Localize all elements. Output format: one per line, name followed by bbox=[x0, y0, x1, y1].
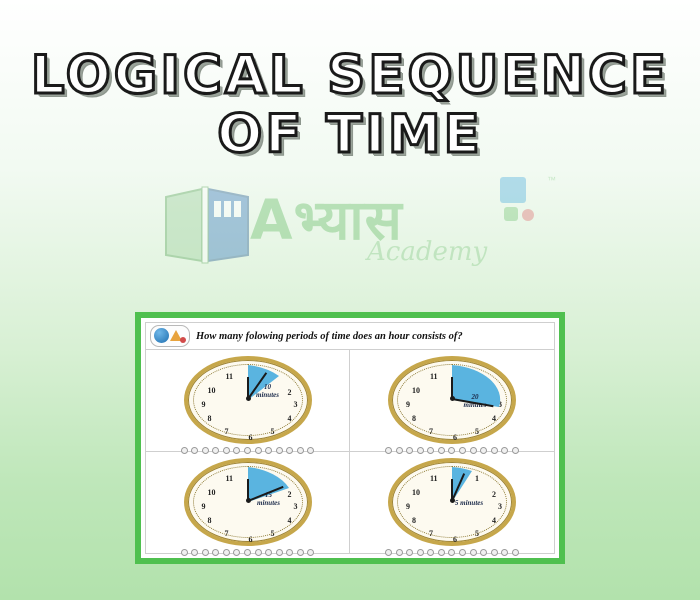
square-blue-icon bbox=[500, 177, 526, 203]
clock-4-numeral-3: 3 bbox=[498, 502, 502, 511]
clock-2-numeral-12: 12 bbox=[452, 366, 460, 375]
clock-1-numeral-10: 10 bbox=[208, 386, 216, 395]
clock-3-numeral-9: 9 bbox=[202, 502, 206, 511]
clock-4-numeral-2: 2 bbox=[492, 490, 496, 499]
clock-1-numeral-2: 2 bbox=[288, 388, 292, 397]
clock-3-numeral-2: 2 bbox=[288, 490, 292, 499]
clock-4-label: 5 minutes bbox=[446, 500, 492, 507]
clock-4-numeral-12: 12 bbox=[452, 468, 460, 477]
clock-3-numeral-4: 4 bbox=[288, 516, 292, 525]
clock-3: 12 1 2 3 4 5 6 7 8 9 10 11 bbox=[173, 458, 323, 546]
clock-2-wedge bbox=[392, 360, 512, 440]
clock-2-minute-hand bbox=[452, 398, 494, 407]
globe-icon bbox=[154, 328, 169, 343]
clock-1-numeral-9: 9 bbox=[202, 400, 206, 409]
clock-1: 12 1 2 3 4 5 6 7 8 9 10 11 bbox=[173, 356, 323, 444]
book-icon bbox=[162, 183, 254, 269]
title-line-1: LOGICAL SEQUENCE bbox=[0, 52, 700, 101]
worksheet-card: How many folowing periods of time does a… bbox=[135, 312, 565, 564]
clock-4-numeral-10: 10 bbox=[412, 488, 420, 497]
page-root: LOGICAL SEQUENCE OF TIME Aभ्यास Academy … bbox=[0, 0, 700, 600]
clock-3-hub bbox=[246, 498, 251, 503]
clock-1-hub bbox=[246, 396, 251, 401]
clock-4: 12 1 2 3 4 5 6 7 8 9 10 11 bbox=[377, 458, 527, 546]
clock-3-hour-hand bbox=[247, 479, 249, 501]
clock-2-numeral-8: 8 bbox=[412, 414, 416, 423]
clock-3-numeral-1: 1 bbox=[271, 474, 275, 483]
clock-2-numeral-11: 11 bbox=[430, 372, 438, 381]
clock-3-wedge bbox=[188, 462, 308, 542]
clock-1-label: 10 minutes bbox=[246, 384, 290, 399]
clock-4-label-value: 5 bbox=[455, 499, 459, 507]
clock-1-numeral-4: 4 bbox=[288, 414, 292, 423]
clock-4-tickrow bbox=[385, 548, 519, 556]
clock-2-numeral-2: 2 bbox=[492, 388, 496, 397]
worksheet-header: How many folowing periods of time does a… bbox=[146, 323, 554, 350]
clock-grid: 12 1 2 3 4 5 6 7 8 9 10 11 bbox=[146, 350, 554, 553]
clock-cell-1[interactable]: 12 1 2 3 4 5 6 7 8 9 10 11 bbox=[146, 350, 350, 452]
clock-3-numeral-3: 3 bbox=[294, 502, 298, 511]
watermark-brand-letter: A bbox=[250, 188, 294, 252]
clock-4-wedge bbox=[392, 462, 512, 542]
clock-face-3: 12 1 2 3 4 5 6 7 8 9 10 11 bbox=[184, 458, 312, 546]
clock-4-numeral-1: 1 bbox=[475, 474, 479, 483]
clock-2-numeral-10: 10 bbox=[412, 386, 420, 395]
title-line-2: OF TIME bbox=[0, 111, 700, 160]
clock-2-numeral-9: 9 bbox=[406, 400, 410, 409]
clock-4-numeral-4: 4 bbox=[492, 516, 496, 525]
watermark-logo: Aभ्यास Academy ™ bbox=[152, 175, 552, 285]
clock-1-numeral-1: 1 bbox=[271, 372, 275, 381]
clock-3-numeral-8: 8 bbox=[208, 516, 212, 525]
clock-3-minute-hand bbox=[247, 486, 283, 502]
page-title: LOGICAL SEQUENCE OF TIME bbox=[0, 52, 700, 170]
clock-4-numeral-11: 11 bbox=[430, 474, 438, 483]
clock-3-numeral-10: 10 bbox=[208, 488, 216, 497]
worksheet-logo bbox=[150, 325, 190, 347]
clock-1-hour-hand bbox=[247, 377, 249, 399]
clock-3-numeral-12: 12 bbox=[248, 468, 256, 477]
clock-1-numeral-11: 11 bbox=[226, 372, 234, 381]
clock-3-label: 15 minutes bbox=[246, 492, 292, 507]
clock-1-wedge bbox=[188, 360, 308, 440]
worksheet-question: How many folowing periods of time does a… bbox=[196, 331, 463, 342]
clock-2-hour-hand bbox=[451, 377, 453, 399]
clock-3-numeral-11: 11 bbox=[226, 474, 234, 483]
trademark-symbol: ™ bbox=[547, 175, 556, 185]
clock-face-1: 12 1 2 3 4 5 6 7 8 9 10 11 bbox=[184, 356, 312, 444]
square-red-icon bbox=[522, 209, 534, 221]
clock-1-numeral-3: 3 bbox=[294, 400, 298, 409]
dot-icon bbox=[180, 337, 186, 343]
clock-4-minute-hand bbox=[451, 473, 465, 501]
clock-2: 12 1 2 3 4 5 6 7 8 9 10 11 bbox=[377, 356, 527, 444]
clock-4-hub bbox=[450, 498, 455, 503]
clock-2-numeral-1: 1 bbox=[475, 372, 479, 381]
clock-1-label-value: 10 bbox=[264, 383, 271, 391]
clock-2-numeral-4: 4 bbox=[492, 414, 496, 423]
watermark-subtitle: Academy bbox=[367, 237, 487, 267]
clock-4-hour-hand bbox=[451, 479, 453, 501]
clock-4-numeral-8: 8 bbox=[412, 516, 416, 525]
clock-cell-3[interactable]: 12 1 2 3 4 5 6 7 8 9 10 11 bbox=[146, 452, 350, 554]
clock-1-minute-hand bbox=[247, 372, 267, 399]
clock-2-hub bbox=[450, 396, 455, 401]
clock-2-label-value: 20 bbox=[472, 393, 479, 401]
clock-2-label-unit: minutes bbox=[464, 401, 487, 409]
clock-3-label-value: 15 bbox=[265, 491, 272, 499]
clock-4-label-unit: minutes bbox=[460, 499, 483, 507]
clock-2-label: 20 minutes bbox=[452, 394, 498, 409]
clock-2-numeral-3: 3 bbox=[498, 400, 502, 409]
clock-1-label-unit: minutes bbox=[256, 391, 279, 399]
clock-3-tickrow bbox=[181, 548, 315, 556]
clock-face-4: 12 1 2 3 4 5 6 7 8 9 10 11 bbox=[388, 458, 516, 546]
clock-cell-2[interactable]: 12 1 2 3 4 5 6 7 8 9 10 11 bbox=[350, 350, 554, 452]
clock-1-numeral-12: 12 bbox=[248, 366, 256, 375]
clock-3-label-unit: minutes bbox=[257, 499, 280, 507]
square-green-icon bbox=[504, 207, 518, 221]
clock-face-2: 12 1 2 3 4 5 6 7 8 9 10 11 bbox=[388, 356, 516, 444]
clock-1-numeral-8: 8 bbox=[208, 414, 212, 423]
worksheet-inner: How many folowing periods of time does a… bbox=[145, 322, 555, 554]
clock-4-numeral-9: 9 bbox=[406, 502, 410, 511]
clock-cell-4[interactable]: 12 1 2 3 4 5 6 7 8 9 10 11 bbox=[350, 452, 554, 554]
